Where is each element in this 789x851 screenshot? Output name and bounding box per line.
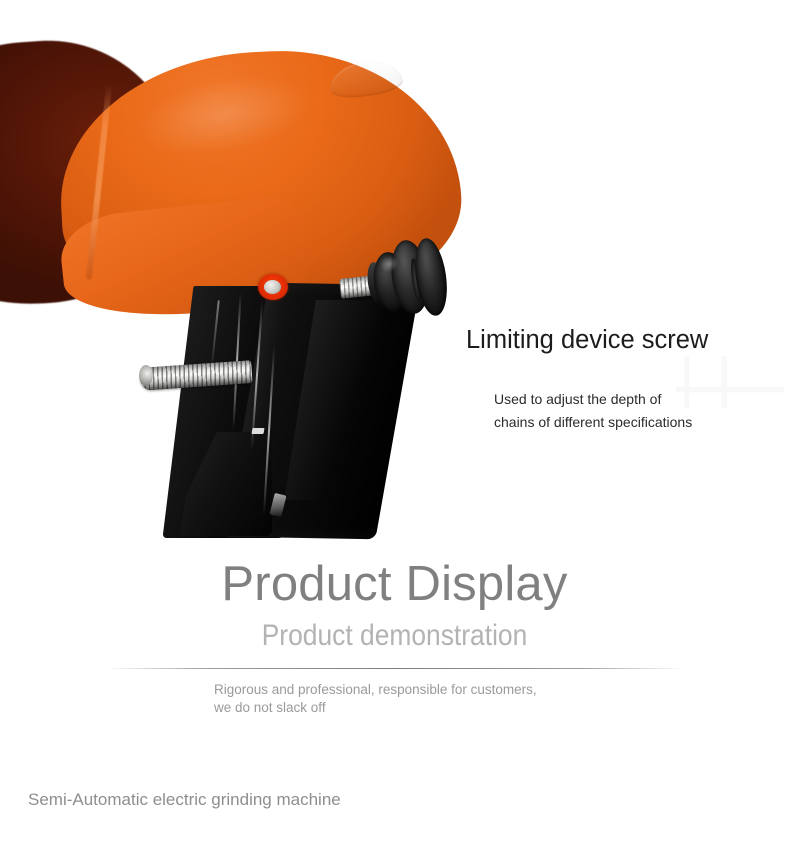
bracket-notch xyxy=(251,428,264,434)
annotation-callout: Limiting device screw Used to adjust the… xyxy=(466,326,782,434)
section-heading: Product Display Product demonstration Ri… xyxy=(0,556,789,717)
product-photo xyxy=(0,0,500,560)
housing-screw-head xyxy=(264,280,281,294)
threaded-rod-left-tip xyxy=(139,365,153,386)
section-divider xyxy=(105,668,685,669)
section-tagline: Rigorous and professional, responsible f… xyxy=(0,681,789,717)
section-title: Product Display xyxy=(0,556,789,614)
footer-caption: Semi-Automatic electric grinding machine xyxy=(28,790,341,810)
annotation-description: Used to adjust the depth of chains of di… xyxy=(494,388,782,434)
section-tagline-line-1: Rigorous and professional, responsible f… xyxy=(214,681,789,699)
section-tagline-line-2: we do not slack off xyxy=(214,699,789,717)
section-subtitle: Product demonstration xyxy=(47,618,741,654)
annotation-description-line-2: chains of different specifications xyxy=(494,411,782,434)
annotation-title: Limiting device screw xyxy=(466,326,782,354)
annotation-description-line-1: Used to adjust the depth of xyxy=(494,388,782,411)
